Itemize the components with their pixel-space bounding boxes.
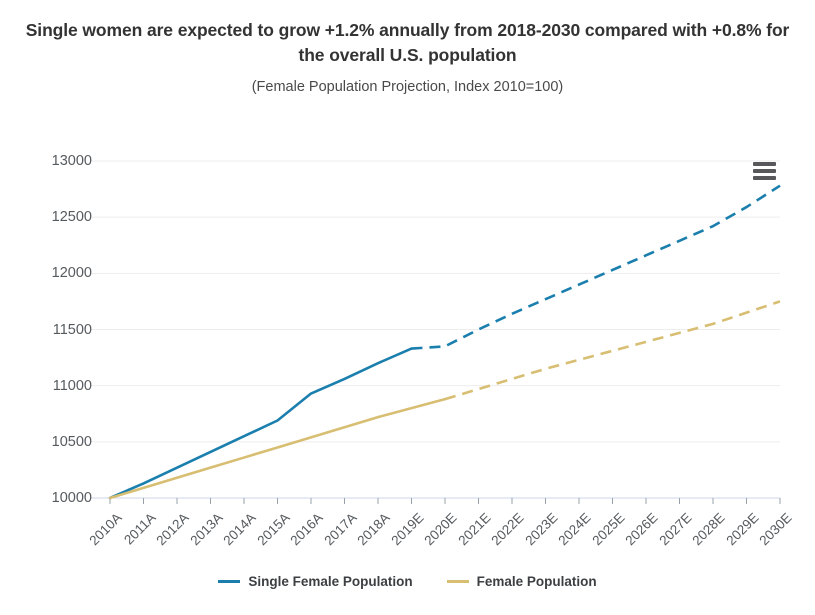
legend-item-1[interactable]: Female Population [447, 574, 597, 589]
chart-legend: Single Female PopulationFemale Populatio… [0, 574, 815, 589]
chart-container: Single women are expected to grow +1.2% … [0, 0, 815, 615]
legend-item-label: Female Population [477, 574, 597, 589]
legend-item-label: Single Female Population [248, 574, 412, 589]
legend-color-swatch [447, 580, 469, 584]
x-axis: 2010A2011A2012A2013A2014A2015A2016A2017A… [0, 0, 815, 615]
legend-item-0[interactable]: Single Female Population [218, 574, 412, 589]
legend-color-swatch [218, 580, 240, 584]
